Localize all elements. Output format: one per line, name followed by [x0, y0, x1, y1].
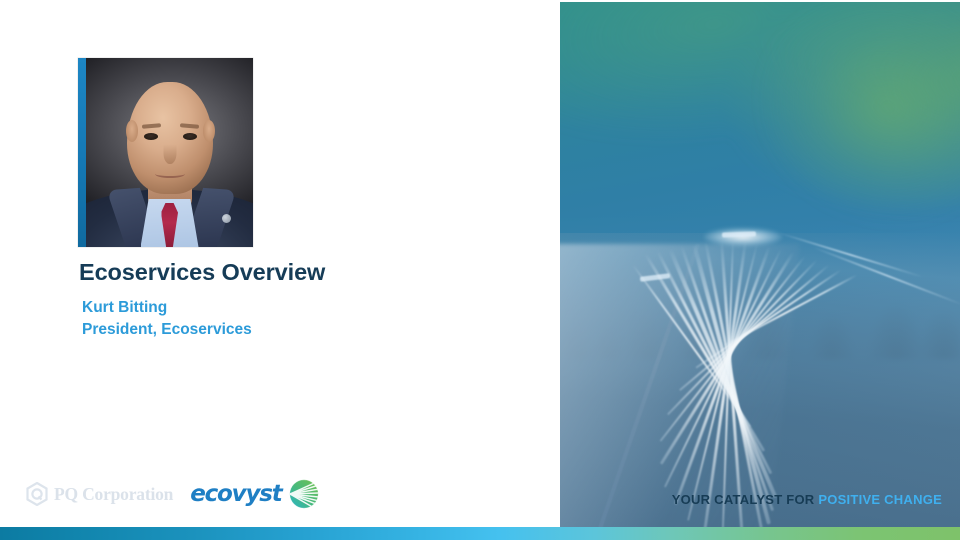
- presenter-role: President, Ecoservices: [82, 319, 519, 340]
- pq-corporation-logo: PQ Corporation: [26, 482, 173, 506]
- hero-image-panel: YOUR CATALYST FOR POSITIVE CHANGE: [560, 2, 960, 527]
- headshot-accent-bar: [78, 58, 86, 247]
- title-block: Ecoservices Overview Kurt Bitting Presid…: [79, 258, 519, 340]
- presenter-name: Kurt Bitting: [82, 297, 519, 318]
- lapel-pin-icon: [222, 214, 231, 223]
- slide-canvas: Ecoservices Overview Kurt Bitting Presid…: [0, 0, 960, 540]
- logo-bar: PQ Corporation ecovyst: [26, 478, 320, 510]
- presenter-headshot: [78, 58, 253, 247]
- tagline-accent: POSITIVE CHANGE: [818, 492, 942, 507]
- eye-right: [183, 133, 197, 140]
- tagline: YOUR CATALYST FOR POSITIVE CHANGE: [672, 492, 942, 507]
- ecovyst-sphere-icon: [288, 478, 320, 510]
- ecovyst-logo: ecovyst: [190, 478, 319, 510]
- headshot-image: [86, 58, 253, 247]
- tagline-primary: YOUR CATALYST FOR: [672, 492, 815, 507]
- pq-hexagon-icon: [26, 482, 48, 506]
- mouth-shape: [155, 170, 185, 178]
- eye-left: [144, 133, 158, 140]
- pq-wordmark: PQ Corporation: [54, 484, 173, 505]
- page-title: Ecoservices Overview: [79, 258, 519, 286]
- left-content-panel: Ecoservices Overview Kurt Bitting Presid…: [0, 0, 560, 540]
- nose-shape: [163, 142, 176, 164]
- ear-left: [126, 120, 138, 142]
- ecovyst-wordmark: ecovyst: [190, 481, 281, 507]
- bottom-gradient-bar: [0, 527, 960, 540]
- ear-right: [203, 120, 215, 142]
- presenter-block: Kurt Bitting President, Ecoservices: [82, 297, 519, 340]
